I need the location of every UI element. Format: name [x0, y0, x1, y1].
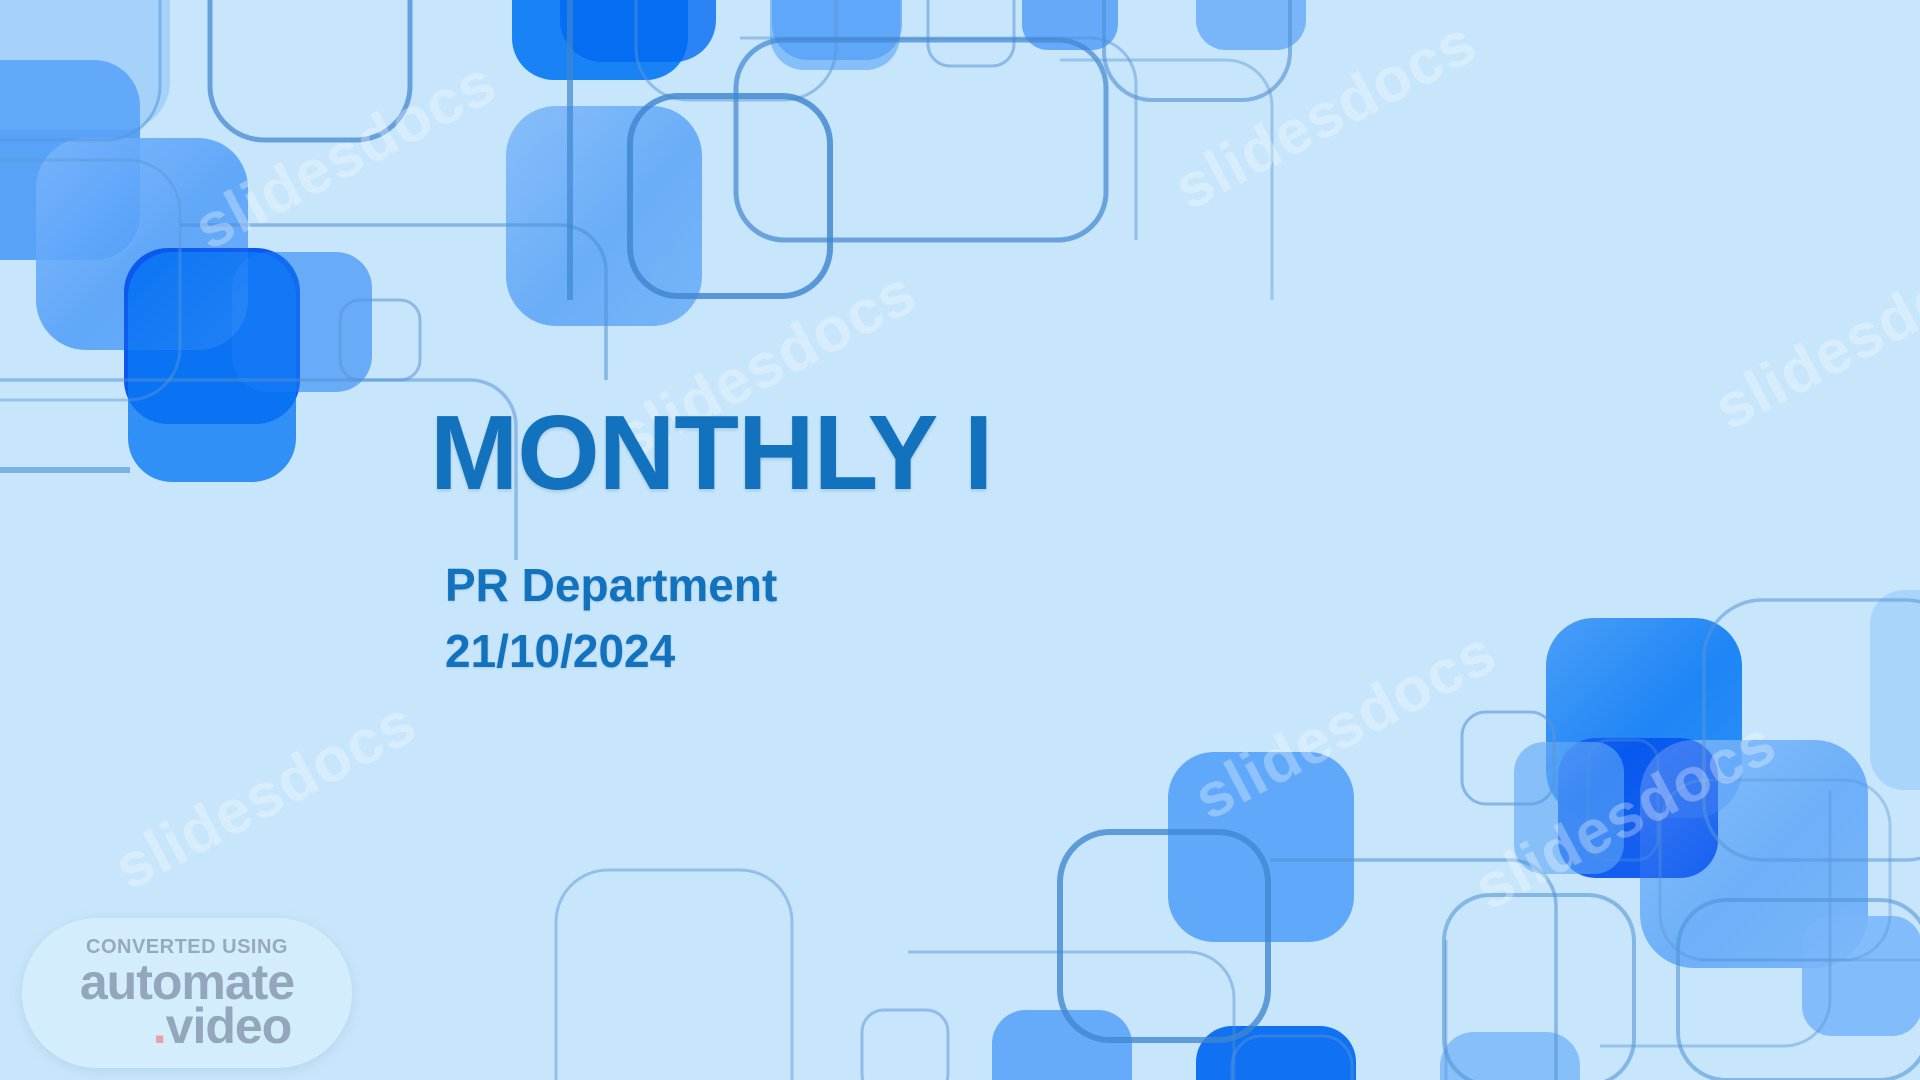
badge-domain-label: .video [153, 1001, 292, 1051]
badge-dot-accent: . [153, 998, 166, 1054]
converted-using-badge[interactable]: CONVERTED USING automate .video [22, 918, 352, 1068]
slide-title: MONTHLY I [430, 398, 992, 509]
subtitle-department: PR Department [445, 553, 992, 618]
subtitle-date: 21/10/2024 [445, 619, 992, 684]
badge-domain-text: video [166, 998, 292, 1054]
slide-text-block: MONTHLY I PR Department 21/10/2024 [430, 398, 992, 684]
slide-subtitle-block: PR Department 21/10/2024 [445, 553, 992, 684]
slide-canvas: slidesdocs slidesdocs slidesdocs slidesd… [0, 0, 1920, 1080]
